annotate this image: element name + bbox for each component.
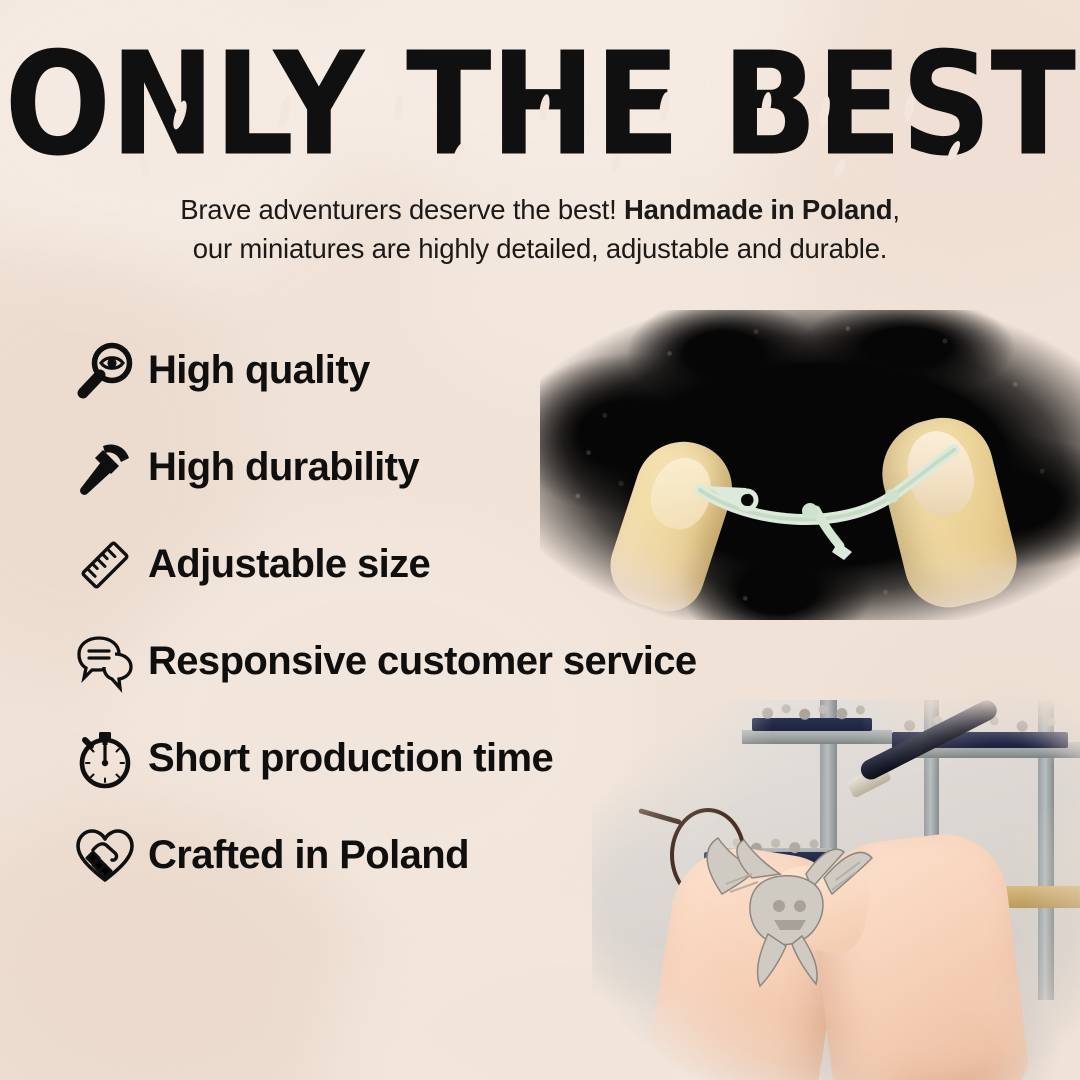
- feature-item-high-durability: High durability: [62, 419, 822, 516]
- feature-label: Short production time: [148, 736, 553, 781]
- heart-handshake-icon: [62, 824, 148, 888]
- feature-label: Crafted in Poland: [148, 833, 469, 878]
- ruler-icon: [62, 533, 148, 597]
- feature-list: High quality High durability: [62, 322, 822, 904]
- stopwatch-icon: [62, 727, 148, 791]
- subtitle-bold-phrase: Handmade in Poland: [624, 194, 892, 225]
- subtitle-line-2: our miniatures are highly detailed, adju…: [193, 233, 888, 264]
- feature-item-high-quality: High quality: [62, 322, 822, 419]
- feature-label: Responsive customer service: [148, 639, 697, 684]
- feature-label: High durability: [148, 445, 419, 490]
- promo-poster: ONLY THE BEST Brave adventurers deserve …: [0, 0, 1080, 1080]
- magnifier-eye-icon: [62, 339, 148, 403]
- feature-item-adjustable-size: Adjustable size: [62, 516, 822, 613]
- feature-label: Adjustable size: [148, 542, 430, 587]
- hammer-icon: [62, 436, 148, 500]
- feature-item-crafted-in-poland: Crafted in Poland: [62, 807, 822, 904]
- subtitle: Brave adventurers deserve the best! Hand…: [0, 190, 1080, 268]
- subtitle-line-1: Brave adventurers deserve the best! Hand…: [180, 194, 900, 225]
- headline: ONLY THE BEST: [0, 34, 1080, 157]
- speech-bubbles-icon: [62, 630, 148, 694]
- feature-item-short-production-time: Short production time: [62, 710, 822, 807]
- feature-item-responsive-customer-service: Responsive customer service: [62, 613, 822, 710]
- headline-text: ONLY THE BEST: [5, 34, 1076, 177]
- feature-label: High quality: [148, 348, 370, 393]
